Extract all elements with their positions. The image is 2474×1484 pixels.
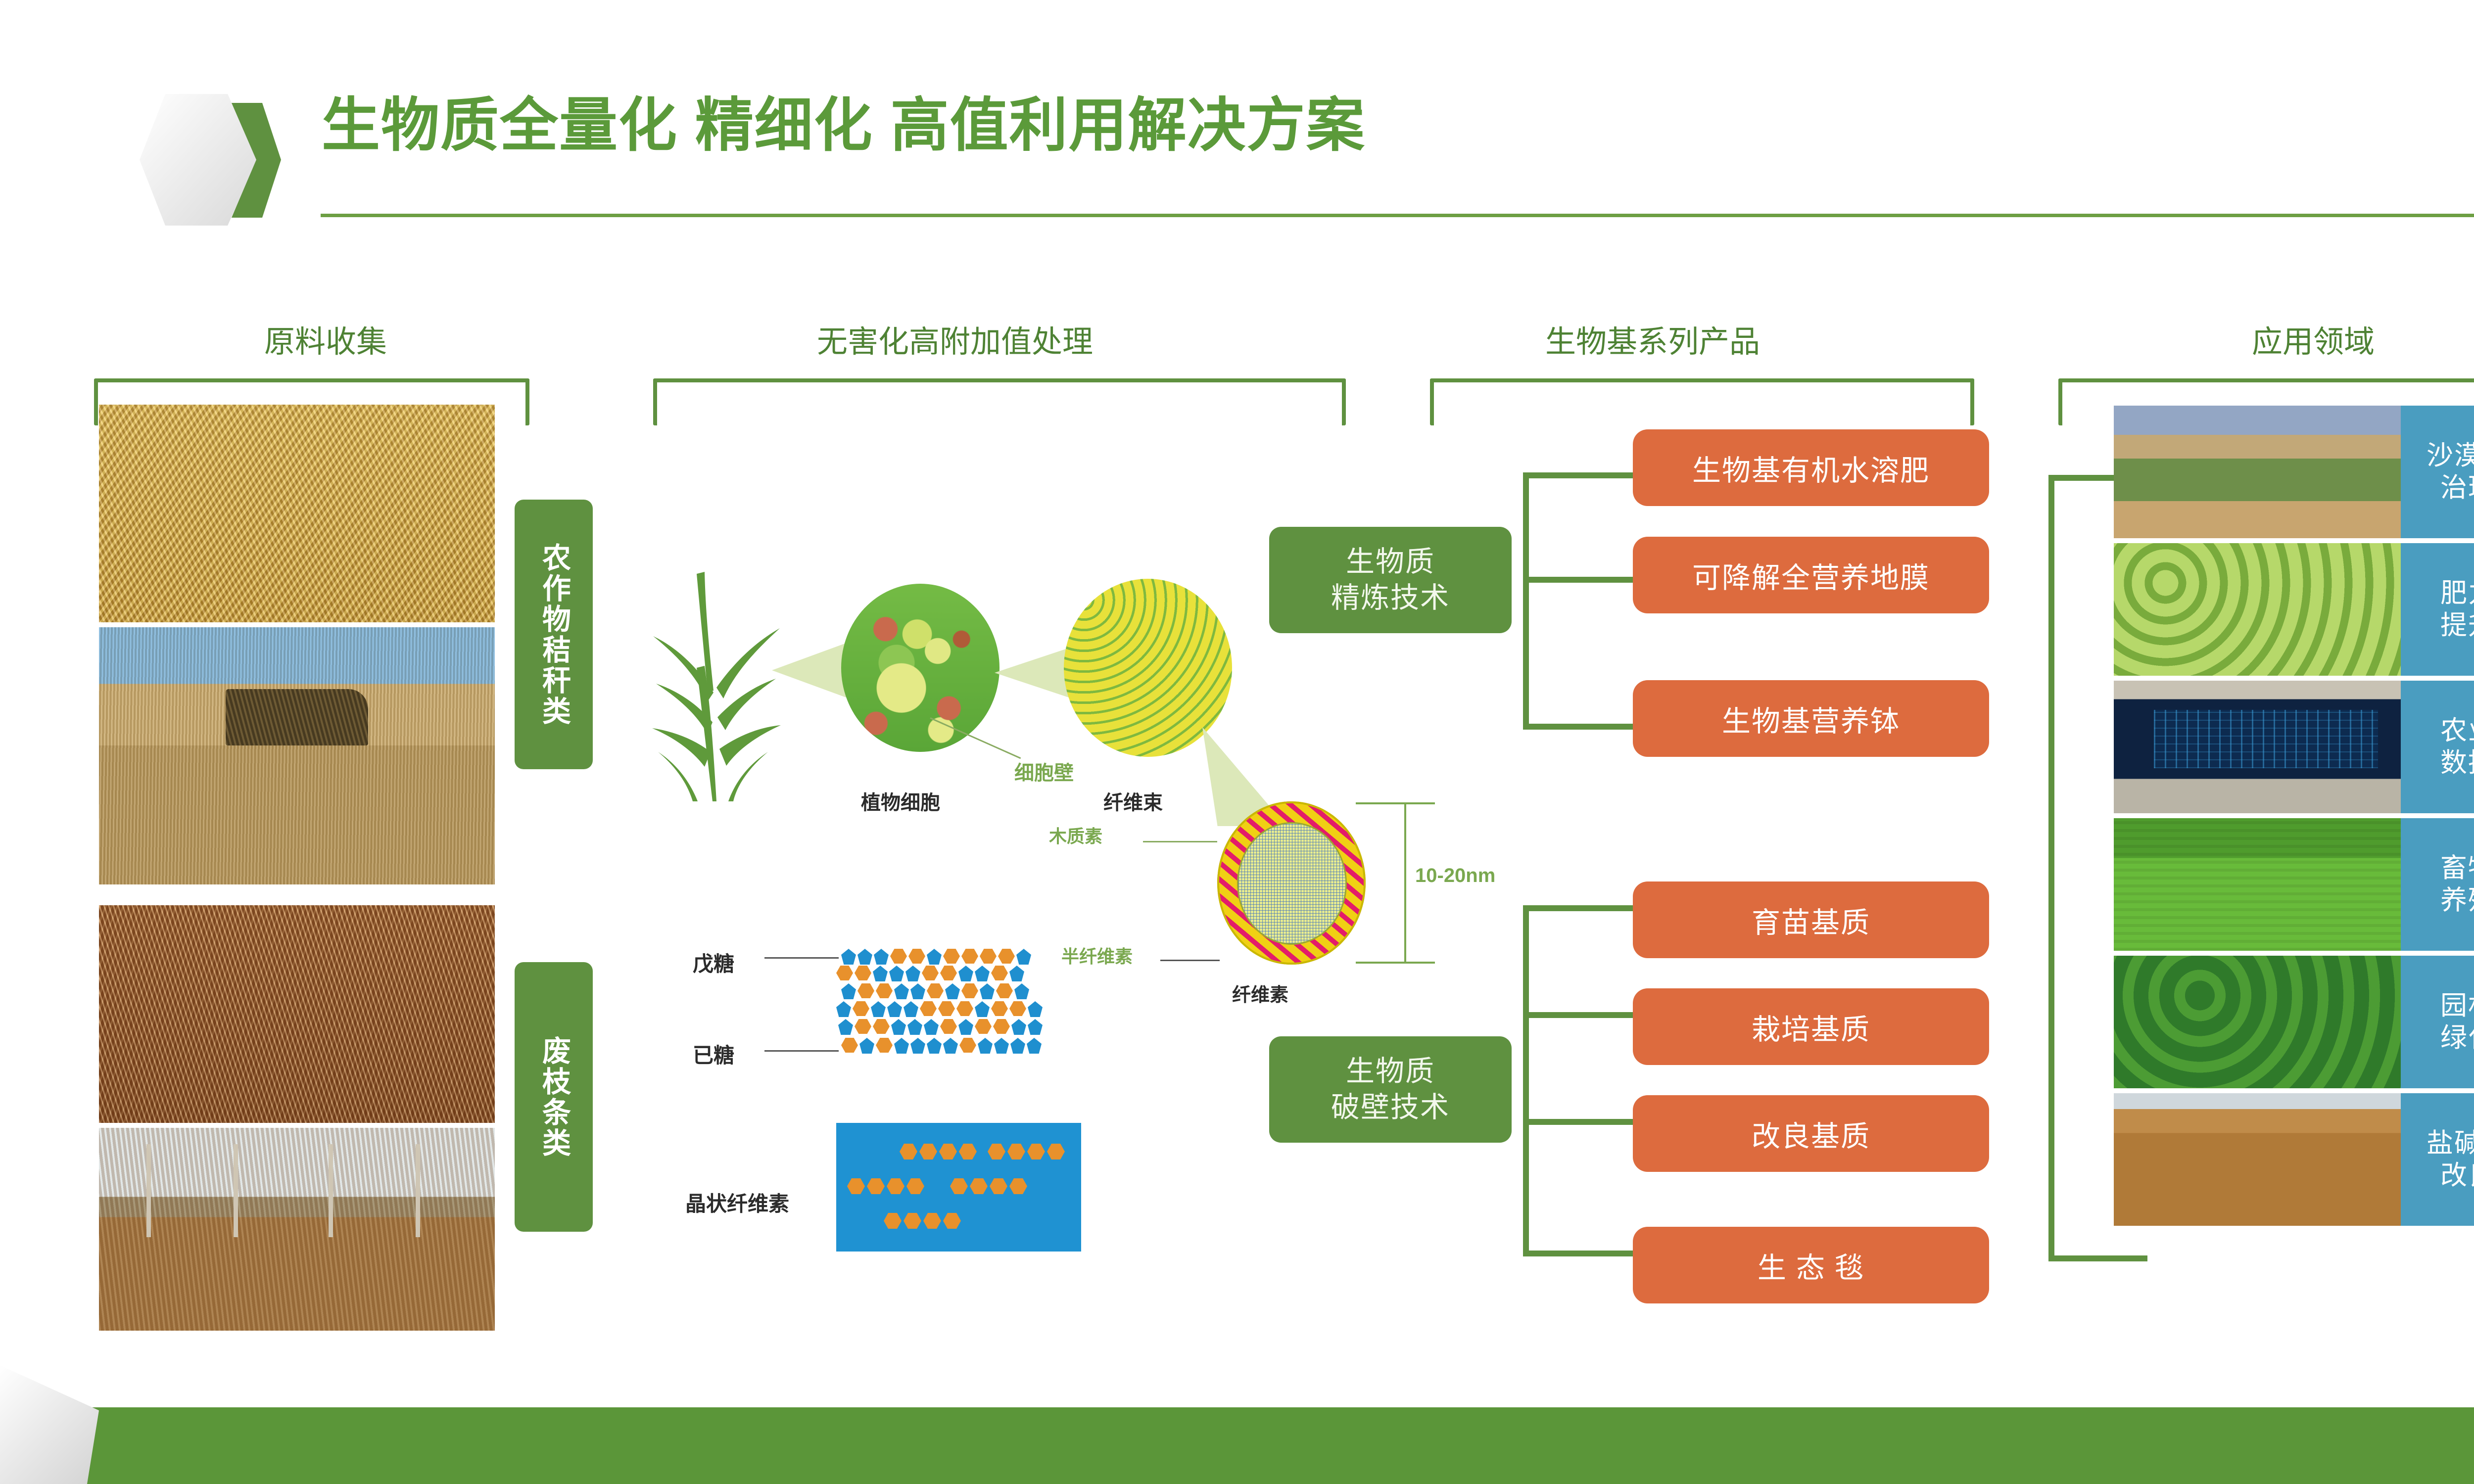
connector-branch bbox=[1523, 472, 1642, 478]
plant-cell-illustration bbox=[841, 584, 999, 752]
section-header-applications: 应用领域 bbox=[2078, 317, 2474, 361]
hemicellulose-leader-line bbox=[1160, 960, 1220, 961]
section-header-products: 生物基系列产品 bbox=[1356, 317, 1950, 361]
application-row-desert[interactable]: 沙漠化 治理 bbox=[2114, 406, 2474, 538]
tech-box-refining-line2: 精炼技术 bbox=[1331, 580, 1450, 616]
bracket-processing bbox=[653, 378, 1346, 425]
crystal-row bbox=[884, 1213, 961, 1229]
app-label-line2: 数据 bbox=[2440, 747, 2474, 779]
application-row-saline-soil[interactable]: 盐碱地 改良 bbox=[2114, 1093, 2474, 1226]
app-label-line1: 农业 bbox=[2440, 715, 2474, 747]
label-hemicellulose: 半纤维素 bbox=[1061, 942, 1133, 968]
app-label-line2: 改良 bbox=[2440, 1159, 2474, 1192]
connector-branch bbox=[1523, 724, 1642, 730]
fiber-bundle-illustration bbox=[1064, 579, 1232, 757]
sugar-chain-row bbox=[841, 949, 1031, 965]
dimension-vertical bbox=[1404, 802, 1406, 964]
product-improvement-substrate[interactable]: 改良基质 bbox=[1633, 1095, 1989, 1172]
tech-box-cellwall-line2: 破壁技术 bbox=[1331, 1090, 1450, 1126]
plant-silhouette-icon bbox=[638, 544, 787, 801]
application-label-saline-soil: 盐碱地 改良 bbox=[2401, 1093, 2474, 1226]
connector-branch bbox=[1523, 1119, 1642, 1125]
sugar-chain-row bbox=[841, 1038, 1042, 1054]
saline-soil-photo bbox=[2114, 1093, 2401, 1226]
vineyard-pruning-photo bbox=[99, 1128, 495, 1331]
label-plant-cell: 植物细胞 bbox=[861, 787, 940, 815]
data-center-photo bbox=[2114, 681, 2401, 813]
pentose-leader-line bbox=[764, 957, 839, 959]
section-header-processing: 无害化高附加值处理 bbox=[559, 317, 1351, 361]
vineyard-post bbox=[416, 1144, 420, 1238]
zoom-beam bbox=[995, 648, 1069, 697]
app-label-line2: 绿化 bbox=[2440, 1022, 2474, 1054]
application-label-fertility: 肥力 提升 bbox=[2401, 543, 2474, 676]
sugar-chain-row bbox=[841, 983, 1029, 999]
dimension-tick-bottom bbox=[1356, 962, 1435, 964]
product-seedling-substrate[interactable]: 育苗基质 bbox=[1633, 881, 1989, 958]
tech-box-refining[interactable]: 生物质 精炼技术 bbox=[1269, 527, 1512, 633]
label-fiber-bundle: 纤维束 bbox=[1103, 787, 1163, 815]
app-label-line2: 提升 bbox=[2440, 609, 2474, 642]
label-lignin: 木质素 bbox=[1049, 822, 1102, 848]
hay-bale-shape bbox=[226, 689, 368, 745]
product-degradable-mulch-film[interactable]: 可降解全营养地膜 bbox=[1633, 537, 1989, 613]
application-label-landscaping: 园林 绿化 bbox=[2401, 956, 2474, 1088]
vineyard-post bbox=[329, 1144, 333, 1238]
dimension-tick-top bbox=[1356, 802, 1435, 804]
product-eco-blanket[interactable]: 生 态 毯 bbox=[1633, 1227, 1989, 1303]
product-cultivation-substrate[interactable]: 栽培基质 bbox=[1633, 988, 1989, 1065]
crystal-row bbox=[847, 1178, 1027, 1194]
bracket-products bbox=[1430, 378, 1974, 425]
application-row-fertility[interactable]: 肥力 提升 bbox=[2114, 543, 2474, 676]
app-label-line2: 养殖 bbox=[2440, 884, 2474, 917]
tech-box-cellwall-line1: 生物质 bbox=[1346, 1054, 1435, 1090]
applications-bracket-bottom bbox=[2048, 1255, 2147, 1261]
app-label-line1: 肥力 bbox=[2440, 577, 2474, 609]
hexagon-chevron-logo bbox=[135, 88, 283, 232]
label-cell-wall: 细胞壁 bbox=[1014, 757, 1074, 786]
sugar-chain-row bbox=[836, 1001, 1043, 1017]
connector-branch bbox=[1523, 577, 1642, 583]
application-label-desert: 沙漠化 治理 bbox=[2401, 406, 2474, 538]
connector-branch bbox=[1523, 1251, 1642, 1256]
app-label-line1: 畜牧 bbox=[2440, 852, 2474, 884]
feedstock-tag-crop-straw: 农作物秸秆类 bbox=[515, 500, 593, 769]
connector-trunk-cellwall bbox=[1523, 905, 1529, 1256]
vineyard-post bbox=[146, 1144, 151, 1238]
label-pentose: 戊糖 bbox=[693, 947, 734, 977]
app-label-line1: 园林 bbox=[2440, 990, 2474, 1022]
sugar-chain-row bbox=[836, 966, 1024, 981]
tech-box-refining-line1: 生物质 bbox=[1346, 544, 1435, 580]
app-label-line2: 治理 bbox=[2440, 472, 2474, 504]
label-hexose: 已糖 bbox=[693, 1039, 734, 1069]
footer-corner-decoration bbox=[0, 1365, 99, 1484]
hexose-leader-line bbox=[764, 1050, 839, 1052]
product-bio-water-soluble-fertilizer[interactable]: 生物基有机水溶肥 bbox=[1633, 429, 1989, 506]
app-label-line1: 沙漠化 bbox=[2426, 440, 2474, 472]
dry-branches-photo bbox=[99, 905, 495, 1123]
crystal-row bbox=[900, 1144, 1065, 1159]
feedstock-tag-waste-branch: 废枝条类 bbox=[515, 962, 593, 1232]
title-underline bbox=[321, 214, 2474, 217]
application-row-livestock[interactable]: 畜牧 养殖 bbox=[2114, 818, 2474, 951]
page-title: 生物质全量化 精细化 高值利用解决方案 bbox=[322, 96, 1366, 155]
connector-trunk-refining bbox=[1523, 472, 1529, 730]
applications-bracket-spine bbox=[2048, 475, 2054, 1261]
application-label-agri-data: 农业 数据 bbox=[2401, 681, 2474, 813]
cabbage-field-photo bbox=[2114, 543, 2401, 676]
tech-box-cellwall[interactable]: 生物质 破壁技术 bbox=[1269, 1036, 1512, 1143]
product-bio-nutrition-pot[interactable]: 生物基营养钵 bbox=[1633, 680, 1989, 757]
app-label-line1: 盐碱地 bbox=[2426, 1127, 2474, 1159]
grazing-sheep-photo bbox=[2114, 818, 2401, 951]
footer-bar bbox=[0, 1407, 2474, 1484]
section-header-collection: 原料收集 bbox=[128, 317, 523, 361]
vineyard-post bbox=[234, 1144, 238, 1238]
application-label-livestock: 畜牧 养殖 bbox=[2401, 818, 2474, 951]
lignin-leader-line bbox=[1143, 841, 1217, 842]
cellulose-core bbox=[1237, 822, 1347, 945]
connector-branch bbox=[1523, 905, 1642, 911]
desert-control-photo bbox=[2114, 406, 2401, 538]
label-fiber-dimension: 10-20nm bbox=[1415, 865, 1495, 887]
hay-bale-field-photo bbox=[99, 627, 495, 884]
sugar-chain-row bbox=[838, 1019, 1043, 1035]
park-trees-photo bbox=[2114, 956, 2401, 1088]
label-cellulose: 纤维素 bbox=[1232, 979, 1288, 1007]
label-crystalline-cellulose: 晶状纤维素 bbox=[685, 1187, 789, 1217]
crystalline-cellulose-diagram bbox=[836, 1123, 1081, 1252]
connector-branch bbox=[1523, 1012, 1642, 1018]
application-row-agri-data[interactable]: 农业 数据 bbox=[2114, 681, 2474, 813]
application-row-landscaping[interactable]: 园林 绿化 bbox=[2114, 956, 2474, 1088]
corn-stalk-field-photo bbox=[99, 405, 495, 622]
